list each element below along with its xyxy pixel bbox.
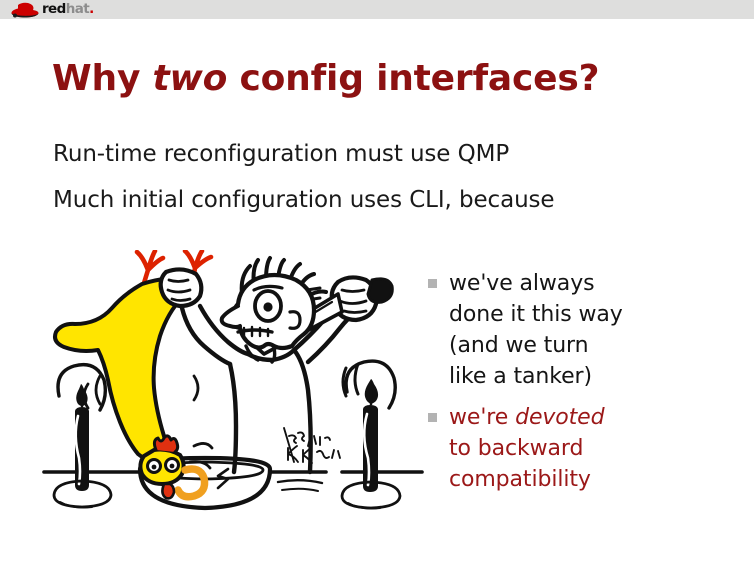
redhat-logo: redhat. [10, 1, 94, 19]
square-bullet-icon [428, 279, 437, 288]
wordmark-red: red [42, 1, 66, 17]
bullet-line: compatibility [449, 464, 604, 495]
man-with-chicken-and-knife-cartoon [42, 250, 424, 542]
wordmark-dot: . [89, 1, 94, 17]
bullet-emphasis: devoted [515, 405, 604, 430]
header-band [0, 0, 754, 19]
body-line: Much initial configuration uses CLI, bec… [53, 177, 713, 223]
title-part-1: Why [52, 58, 153, 99]
bullet-line: done it this way [449, 299, 623, 330]
body-text-block: Run-time reconfiguration must use QMP Mu… [53, 131, 713, 223]
square-bullet-icon [428, 413, 437, 422]
bullet-line: we're devoted [449, 402, 604, 433]
bullet-line: like a tanker) [449, 361, 623, 392]
list-item: we're devoted to backward compatibility [428, 402, 728, 495]
title-emphasis: two [153, 58, 228, 99]
page-title: Why two config interfaces? [52, 60, 712, 98]
list-item: we've always done it this way (and we tu… [428, 268, 728, 392]
body-line: Run-time reconfiguration must use QMP [53, 131, 713, 177]
bullet-line: (and we turn [449, 330, 623, 361]
bullet-line: to backward [449, 433, 604, 464]
redhat-fedora-icon [10, 2, 40, 19]
bullet-item-text: we're devoted to backward compatibility [449, 402, 604, 495]
wordmark-hat: hat [66, 1, 89, 17]
bullet-line: we've always [449, 268, 623, 299]
redhat-wordmark: redhat. [42, 3, 94, 17]
bullet-item-text: we've always done it this way (and we tu… [449, 268, 623, 392]
title-part-2: config interfaces? [227, 58, 599, 99]
bullet-list: we've always done it this way (and we tu… [428, 268, 728, 505]
bullet-line-lead: we're [449, 405, 515, 430]
